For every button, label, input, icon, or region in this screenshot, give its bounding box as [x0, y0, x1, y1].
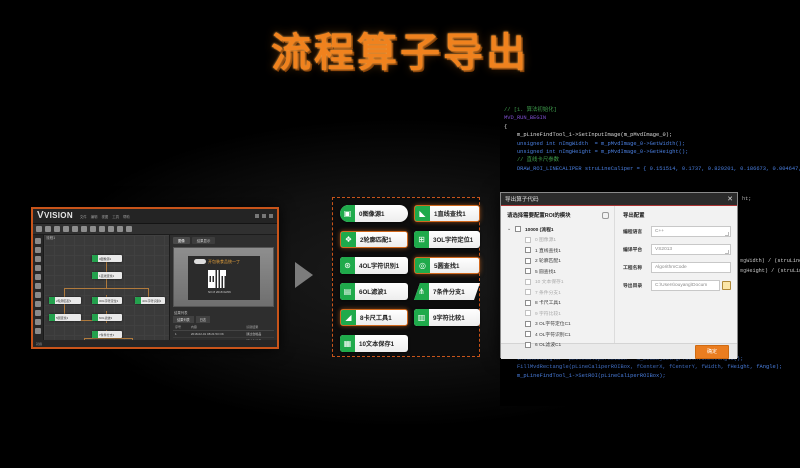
operator-label: 8卡尺工具1 [356, 313, 392, 322]
col-content: 内容 [189, 324, 244, 330]
code-line: MVD_RUN_BEGIN [504, 114, 800, 122]
tree-item[interactable]: 8 卡尺工具1 [507, 298, 609, 309]
code-line: // [1. 算法初始化] [504, 106, 800, 114]
result-panel: 图像 结果显示 开包装食品统一丁 NO.8 2018 02/06 结果列表 结果… [169, 235, 277, 349]
tree-item-root[interactable]: ⌄10000 (流程1 [507, 224, 609, 235]
stop-icon[interactable] [72, 226, 78, 232]
tree-item-label: 4 OL字符识别C1 [531, 331, 571, 338]
code-line: // 直线卡尺参数 [504, 156, 800, 164]
text-save-icon: ▦ [340, 335, 355, 352]
tree-item-label: 6 OL滤波C1 [531, 341, 561, 348]
line-find-icon: ◣ [415, 206, 430, 221]
code-line: m_pLineFindTool_1->SetROI(pLineCaliperRO… [504, 372, 800, 380]
rail-icon-5[interactable] [35, 274, 41, 280]
app-logo: VVISION [35, 211, 75, 221]
tree-item[interactable]: 0 图像源1 [507, 235, 609, 246]
image-label: 开包装食品统一丁 [208, 259, 240, 265]
image-source-icon: ▣ [340, 205, 355, 222]
code-line: unsigned int nImgWidth = m_pMvdImage_0->… [504, 140, 800, 148]
field-export-dir: 导出目录 C:\Users\ouyang\Docum [623, 280, 731, 291]
node-label: 2轮廓匹配1 [55, 299, 71, 303]
grid-icon[interactable] [90, 226, 96, 232]
operator-label: 1直线查找1 [430, 209, 466, 218]
canvas-node[interactable]: 5圆查找1 [49, 314, 81, 321]
operator-node[interactable]: ▤6OL滤波1 [340, 283, 408, 300]
language-select[interactable]: C++ [651, 226, 731, 237]
tree-item[interactable]: 10 文本保存1 [507, 277, 609, 288]
run-icon[interactable] [63, 226, 69, 232]
app-body: 流程1 0图像源1 1直线查找1 2轮廓匹配1 3OL字符定位1 [33, 235, 277, 349]
field-value: C:\Users\ouyang\Docum [655, 283, 707, 288]
export-icon[interactable] [117, 226, 123, 232]
node-label: 5圆查找1 [55, 316, 68, 320]
field-value: C++ [655, 229, 664, 234]
col-index: 序号 [173, 324, 189, 330]
tree-item-label: 1 直线查找1 [531, 247, 561, 254]
canvas-node[interactable]: 2轮廓匹配1 [49, 297, 81, 304]
code-line: m_pLineFindTool_1->SetInputImage(m_pMvdI… [504, 131, 800, 139]
tree-item[interactable]: 9 字符比较1 [507, 308, 609, 319]
node-label: 0图像源1 [98, 257, 111, 261]
operator-node[interactable]: ⋔7条件分支1 [414, 283, 480, 300]
canvas-node[interactable]: 0图像源1 [92, 255, 122, 262]
title-area: 流程算子导出 [0, 20, 800, 78]
tree-item[interactable]: 3 OL字符定位C1 [507, 319, 609, 330]
menu-item-4[interactable]: 帮助 [123, 214, 130, 219]
col-result: 识别结果 [244, 324, 274, 330]
page-title: 流程算子导出 [271, 20, 529, 78]
tab-results[interactable]: 结果显示 [192, 237, 216, 244]
dialog-title: 导出算子代码 [505, 195, 539, 203]
open-icon[interactable] [45, 226, 51, 232]
code-fragment: mgHeight) / (struLineCal [740, 268, 800, 274]
operator-label: 5圆查找1 [430, 261, 459, 270]
rail-icon-4[interactable] [35, 265, 41, 271]
platform-select[interactable]: VS2013 [651, 244, 731, 255]
app-titlebar: VVISION 文件 编辑 视图 工具 帮助 [33, 209, 277, 224]
circle-find-icon: ◎ [415, 258, 430, 273]
qr-code [208, 270, 226, 288]
cell-content: 2018-02-01 08:21:53 OK [189, 331, 244, 337]
module-tree: ⌄10000 (流程1 0 图像源1 1 直线查找1 2 轮廓匹配1 5 圆查找… [507, 224, 609, 350]
config-heading: 导出配置 [623, 211, 731, 219]
operator-node[interactable]: ▦10文本保存1 [340, 335, 408, 352]
result-subtabs[interactable]: 结果列表 日志 [170, 316, 277, 324]
tree-item-label: 7 条件分支1 [531, 289, 561, 296]
rail-icon-7[interactable] [35, 292, 41, 298]
dialog-body: 请选择需要配置ROI的模块 ⌄10000 (流程1 0 图像源1 1 直线查找1… [501, 206, 737, 343]
code-line: FillMvdRectangle(pLineCaliperROIBox, fCe… [504, 363, 800, 371]
help-icon[interactable] [126, 226, 132, 232]
table-header-row: 序号 内容 识别结果 [173, 324, 274, 331]
code-line: { [504, 123, 800, 131]
tree-item[interactable]: 7 条件分支1 [507, 287, 609, 298]
canvas-node[interactable]: 6OL滤波1 [92, 314, 122, 321]
field-language: 编程语言 C++ [623, 226, 731, 237]
cell-result: 通过合格品 [244, 331, 274, 337]
tree-item-label: 5 圆查找1 [531, 268, 556, 275]
contour-match-icon: ❖ [341, 232, 356, 247]
flow-wire [106, 262, 107, 272]
cell-index: 1 [173, 331, 189, 337]
module-selection-pane: 请选择需要配置ROI的模块 ⌄10000 (流程1 0 图像源1 1 直线查找1… [501, 206, 615, 343]
operator-label: 6OL滤波1 [355, 287, 387, 296]
rail-icon-10[interactable] [35, 319, 41, 325]
table-row[interactable]: 12018-02-01 08:21:53 OK通过合格品 [173, 331, 274, 338]
image-viewer[interactable]: 开包装食品统一丁 NO.8 2018 02/06 [173, 247, 274, 307]
canvas-tab[interactable]: 流程1 [46, 236, 55, 241]
close-icon[interactable] [269, 214, 273, 218]
camera-icon[interactable] [99, 226, 105, 232]
resize-grip-icon [725, 232, 729, 236]
status-bar: 就绪 [33, 340, 277, 347]
maximize-icon[interactable] [262, 214, 266, 218]
operator-node[interactable]: ◎5圆查找1 [414, 257, 480, 274]
status-text: 就绪 [33, 342, 42, 346]
module-header: 请选择需要配置ROI的模块 [507, 211, 609, 219]
menu-item-3[interactable]: 工具 [112, 214, 119, 219]
folder-icon[interactable] [722, 281, 731, 290]
operator-label: 3OL字符定位1 [429, 235, 473, 244]
field-value: VS2013 [655, 247, 672, 252]
code-fragment: ht; [742, 196, 751, 202]
module-heading: 请选择需要配置ROI的模块 [507, 211, 571, 219]
operator-label: 7条件分支1 [429, 287, 465, 296]
flow-canvas[interactable]: 流程1 0图像源1 1直线查找1 2轮廓匹配1 3OL字符定位1 [44, 235, 169, 349]
field-label: 导出目录 [623, 282, 651, 289]
node-label: 1直线查找1 [98, 274, 114, 278]
tree-item[interactable]: 6 OL滤波C1 [507, 340, 609, 351]
rail-icon-3[interactable] [35, 256, 41, 262]
filter-icon: ▤ [340, 283, 355, 300]
node-label: 6OL滤波1 [98, 316, 112, 320]
zoom-icon[interactable] [81, 226, 87, 232]
operator-node[interactable]: ⊛4OL字符识别1 [340, 257, 408, 274]
flow-wire [64, 288, 149, 289]
char-compare-icon: ▥ [414, 309, 429, 326]
operator-label: 4OL字符识别1 [355, 261, 399, 270]
subtab-list[interactable]: 结果列表 [173, 316, 194, 323]
rail-icon-11[interactable] [35, 328, 41, 334]
operator-label: 2轮廓匹配1 [356, 235, 392, 244]
project-name-input[interactable]: AlgorithmCode [651, 262, 731, 273]
menu-item-0[interactable]: 文件 [80, 214, 87, 219]
tool-rail[interactable] [33, 235, 44, 349]
app-menubar[interactable]: 文件 编辑 视图 工具 帮助 [80, 214, 130, 219]
code-fragment: mgWidth) / (struLineCalip [740, 258, 800, 264]
code-line: unsigned int nImgHeight = m_pMvdImage_0-… [504, 148, 800, 156]
char-recognize-icon: ⊛ [340, 257, 355, 274]
app-toolbar[interactable] [33, 224, 277, 235]
operator-grid: ▣0图像源1 ◣1直线查找1 ❖2轮廓匹配1 ⊞3OL字符定位1 ⊛4OL字符识… [340, 205, 472, 349]
field-label: 编程语言 [623, 228, 651, 235]
app-name: VISION [44, 211, 73, 220]
object-mark [194, 259, 206, 264]
caliper-icon: ◢ [341, 310, 356, 325]
field-label: 编译平台 [623, 246, 651, 253]
field-value: AlgorithmCode [655, 265, 687, 270]
export-dialog: 导出算子代码 ✕ 请选择需要配置ROI的模块 ⌄10000 (流程1 0 图像源… [500, 192, 738, 358]
export-dir-input[interactable]: C:\Users\ouyang\Docum [651, 280, 720, 291]
result-list-title: 结果列表 [170, 309, 277, 316]
refresh-icon[interactable] [602, 212, 609, 219]
operator-node[interactable]: ▥9字符比较1 [414, 309, 480, 326]
tree-item-label: 8 卡尺工具1 [531, 299, 561, 306]
operator-node[interactable]: ▣0图像源1 [340, 205, 408, 222]
confirm-button[interactable]: 确定 [695, 345, 729, 359]
flow-arrow-icon [295, 262, 313, 288]
operator-list-panel: ▣0图像源1 ◣1直线查找1 ❖2轮廓匹配1 ⊞3OL字符定位1 ⊛4OL字符识… [332, 197, 480, 357]
settings-icon[interactable] [108, 226, 114, 232]
canvas-node[interactable]: 1直线查找1 [92, 272, 122, 279]
node-label: 7条件分支1 [98, 333, 114, 337]
canvas-node[interactable]: 7条件分支1 [92, 331, 122, 338]
canvas-node[interactable]: 4OL字符识别1 [135, 297, 165, 304]
code-line: DRAW_ROI_LINECALIPER struLineCaliper = {… [504, 165, 800, 173]
resize-grip-icon [725, 250, 729, 254]
char-locate-icon: ⊞ [414, 231, 429, 248]
export-config-pane: 导出配置 编程语言 C++ 编译平台 VS2013 工程名称 Algorithm… [615, 206, 737, 343]
rail-icon-6[interactable] [35, 283, 41, 289]
slide-root: 流程算子导出 VVISION 文件 编辑 视图 工具 帮助 [0, 0, 800, 468]
chevron-down-icon[interactable]: ⌄ [507, 226, 515, 232]
rail-icon-9[interactable] [35, 310, 41, 316]
flow-wire [106, 279, 107, 288]
subtab-log[interactable]: 日志 [196, 316, 210, 323]
field-platform: 编译平台 VS2013 [623, 244, 731, 255]
branch-icon: ⋔ [414, 283, 429, 300]
new-icon[interactable] [36, 226, 42, 232]
node-label: 3OL字符定位1 [98, 299, 118, 303]
vision-software-screenshot: VVISION 文件 编辑 视图 工具 帮助 [31, 207, 279, 349]
tree-item-label: 10000 (流程1 [521, 226, 554, 233]
menu-item-2[interactable]: 视图 [101, 214, 108, 219]
minimize-icon[interactable] [255, 214, 259, 218]
operator-label: 0图像源1 [355, 209, 384, 218]
flow-wire [84, 338, 132, 339]
rail-icon-2[interactable] [35, 247, 41, 253]
rail-icon-1[interactable] [35, 238, 41, 244]
tree-item-label: 10 文本保存1 [531, 278, 564, 285]
tree-item-label: 9 字符比较1 [531, 310, 561, 317]
operator-label: 9字符比较1 [429, 313, 465, 322]
result-tabs[interactable]: 图像 结果显示 [170, 235, 277, 245]
image-sublabel: NO.8 2018 02/06 [208, 290, 231, 294]
operator-node[interactable]: ◢8卡尺工具1 [340, 309, 408, 326]
operator-label: 10文本保存1 [355, 339, 394, 348]
tree-item[interactable]: 2 轮廓匹配1 [507, 256, 609, 267]
tree-item[interactable]: 1 直线查找1 [507, 245, 609, 256]
canvas-node[interactable]: 3OL字符定位1 [92, 297, 122, 304]
tree-item[interactable]: 4 OL字符识别C1 [507, 329, 609, 340]
field-project-name: 工程名称 AlgorithmCode [623, 262, 731, 273]
tree-item-label: 3 OL字符定位C1 [531, 320, 571, 327]
rail-icon-8[interactable] [35, 301, 41, 307]
tree-item-label: 0 图像源1 [531, 236, 556, 243]
operator-node[interactable]: ❖2轮廓匹配1 [340, 231, 408, 248]
menu-item-1[interactable]: 编辑 [91, 214, 98, 219]
field-label: 工程名称 [623, 264, 651, 271]
node-label: 4OL字符识别1 [141, 299, 161, 303]
tab-image[interactable]: 图像 [173, 237, 190, 244]
operator-node[interactable]: ◣1直线查找1 [414, 205, 480, 222]
save-icon[interactable] [54, 226, 60, 232]
operator-node[interactable]: ⊞3OL字符定位1 [414, 231, 480, 248]
dialog-titlebar: 导出算子代码 ✕ [501, 193, 737, 206]
tree-item-label: 2 轮廓匹配1 [531, 257, 561, 264]
tree-item[interactable]: 5 圆查找1 [507, 266, 609, 277]
close-icon[interactable]: ✕ [727, 196, 733, 203]
window-controls[interactable] [255, 214, 275, 218]
